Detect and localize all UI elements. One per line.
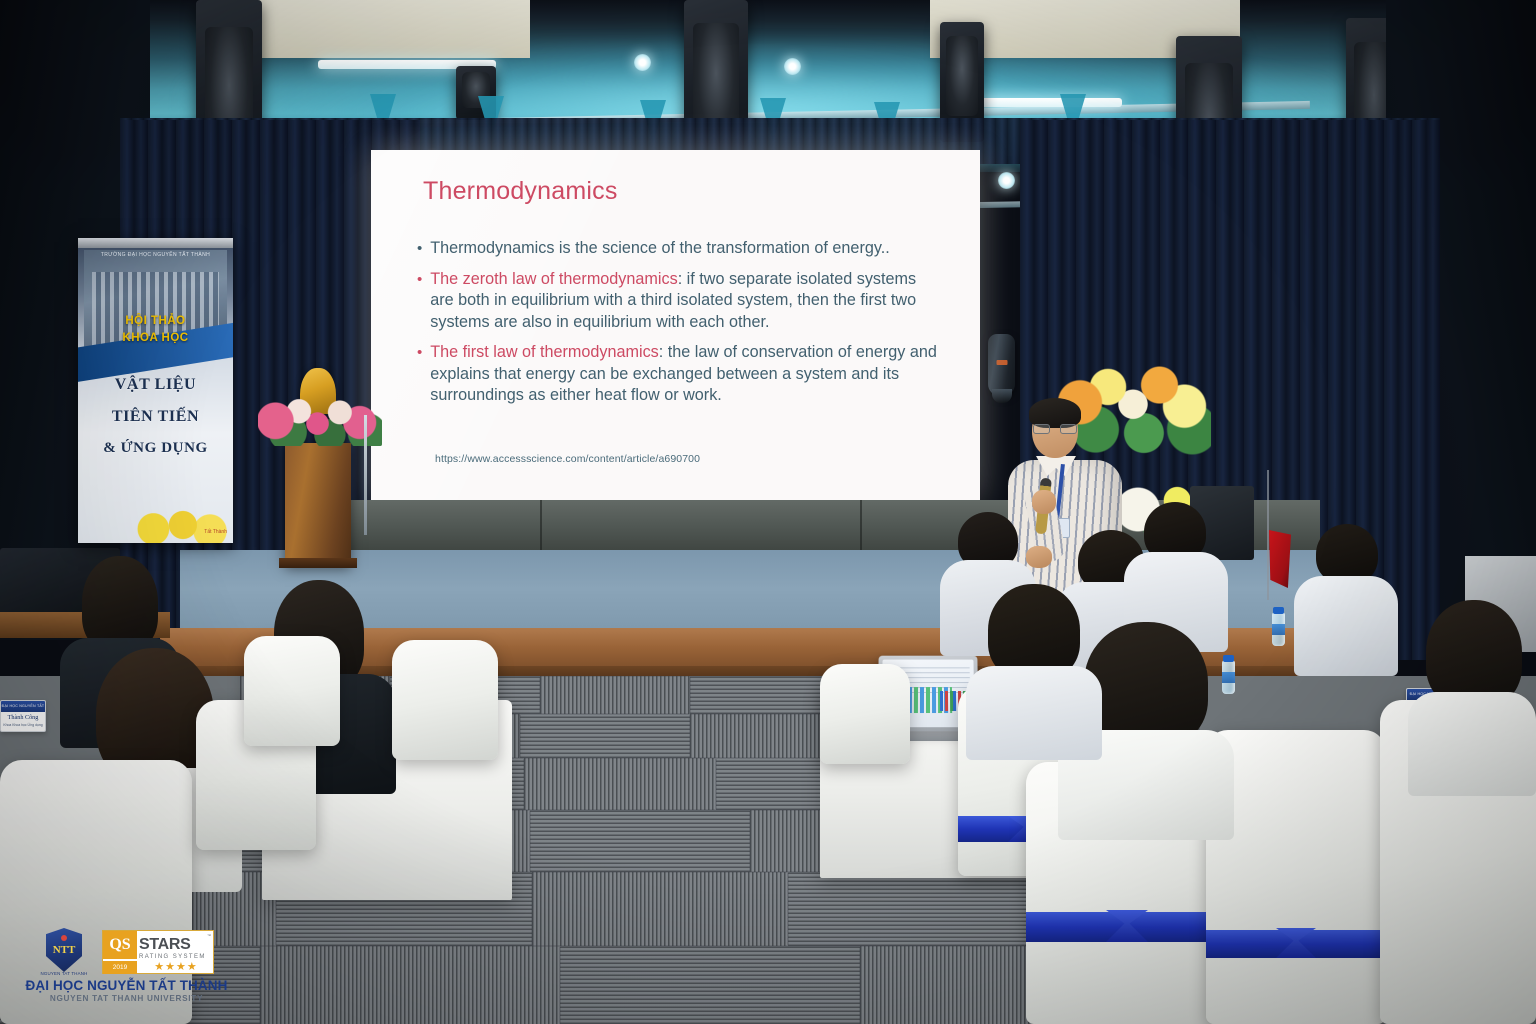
projection-screen: Thermodynamics • Thermodynamics is the s… — [371, 150, 980, 502]
banner-main-line-1: VẬT LIỆU — [78, 376, 233, 394]
person-torso — [966, 666, 1102, 760]
shield-initials: NTT — [46, 944, 82, 956]
banner-headline-2: KHOA HỌC — [78, 332, 233, 344]
bullet-text: Thermodynamics is the science of the tra… — [430, 238, 889, 260]
name-card-affiliation: Khoa Khoa học Ứng dụng — [1, 723, 45, 727]
stage-spotlight — [988, 334, 1015, 396]
person-torso — [1294, 576, 1398, 676]
banner-sponsor-mark: Tất Thành — [204, 529, 227, 535]
carpet-tile — [788, 872, 1044, 946]
qs-mark: QS — [103, 931, 137, 959]
carpet-tile — [560, 946, 860, 1024]
banner-main-line-2: TIÊN TIẾN — [78, 408, 233, 426]
carpet-tile — [690, 676, 840, 714]
slide-bullet: • Thermodynamics is the science of the t… — [417, 238, 937, 260]
slide-bullet: • The first law of thermodynamics: the l… — [417, 342, 937, 407]
carpet-tile — [520, 714, 690, 758]
bullet-marker: • — [417, 342, 422, 407]
bullet-lead: The first law of thermodynamics — [430, 343, 659, 361]
slide-source-url: https://www.accessscience.com/content/ar… — [435, 453, 700, 465]
ntt-shield-icon: NTT — [46, 928, 82, 972]
conference-hall-photo: Thermodynamics • Thermodynamics is the s… — [0, 0, 1536, 1024]
carpet-tile — [524, 758, 716, 810]
slide-bullet: • The zeroth law of thermodynamics: if t… — [417, 269, 937, 334]
banquet-chair — [392, 640, 498, 760]
slide-title: Thermodynamics — [423, 177, 618, 206]
slide-bullet-list: • Thermodynamics is the science of the t… — [417, 238, 937, 416]
qs-stars-badge: QS STARS ™ RATING SYSTEM 2019 ★★★★ — [102, 930, 214, 974]
presenter-hand — [1032, 490, 1056, 514]
trademark-icon: ™ — [207, 933, 211, 938]
downlight — [998, 172, 1015, 189]
downlight — [784, 58, 801, 75]
banquet-chair — [244, 636, 340, 746]
bullet-body: The first law of thermodynamics: the law… — [430, 342, 937, 407]
banner-university-line: TRƯỜNG ĐẠI HỌC NGUYỄN TẤT THÀNH — [78, 252, 233, 258]
vietnam-flag — [1269, 530, 1291, 588]
banner-top-bar — [78, 238, 233, 248]
water-bottle — [1272, 612, 1285, 646]
carpet-tile — [530, 810, 750, 872]
shield-subtext: NGUYEN TAT THANH — [30, 971, 98, 976]
event-roll-up-banner: TRƯỜNG ĐẠI HỌC NGUYỄN TẤT THÀNH HỘI THẢO… — [78, 238, 233, 543]
name-card-org: ĐẠI HỌC NGUYỄN TẤT THÀNH — [1, 701, 45, 712]
audience-member — [1294, 524, 1398, 674]
carpet-tile — [540, 676, 690, 714]
podium-base — [279, 558, 357, 568]
qs-star-icons: ★★★★ — [139, 960, 213, 974]
person-head — [1316, 524, 1378, 584]
table-name-card: ĐẠI HỌC NGUYỄN TẤT THÀNH Thành Công Khoa… — [0, 700, 46, 732]
banner-headline-1: HỘI THẢO — [78, 315, 233, 327]
audience-member — [1408, 600, 1536, 790]
audience-member — [966, 584, 1102, 754]
university-logo-watermark: NTT NGUYEN TAT THANH QS STARS ™ RATING S… — [24, 924, 229, 1010]
carpet-tile — [260, 946, 560, 1024]
bullet-lead: The zeroth law of thermodynamics — [430, 270, 677, 288]
banner-main-line-3: & ỨNG DỤNG — [78, 440, 233, 457]
university-name-en: NGUYEN TAT THANH UNIVERSITY — [24, 994, 229, 1003]
microphone-stand — [364, 415, 367, 535]
university-name-vi: ĐẠI HỌC NGUYỄN TẤT THÀNH — [24, 978, 229, 993]
bullet-marker: • — [417, 238, 422, 260]
carpet-tile — [532, 872, 788, 946]
ceiling-panel-left — [230, 0, 530, 58]
banner-foreground-flowers — [118, 507, 233, 543]
bullet-marker: • — [417, 269, 422, 334]
name-card-name: Thành Công — [1, 714, 45, 721]
person-torso — [1408, 692, 1536, 796]
flag-pole — [1267, 470, 1269, 600]
downlight — [634, 54, 651, 71]
presenter-glasses — [1032, 424, 1078, 434]
podium — [285, 443, 351, 565]
qs-year: 2019 — [103, 961, 137, 974]
bullet-body: The zeroth law of thermodynamics: if two… — [430, 269, 937, 334]
banquet-chair — [820, 664, 910, 764]
